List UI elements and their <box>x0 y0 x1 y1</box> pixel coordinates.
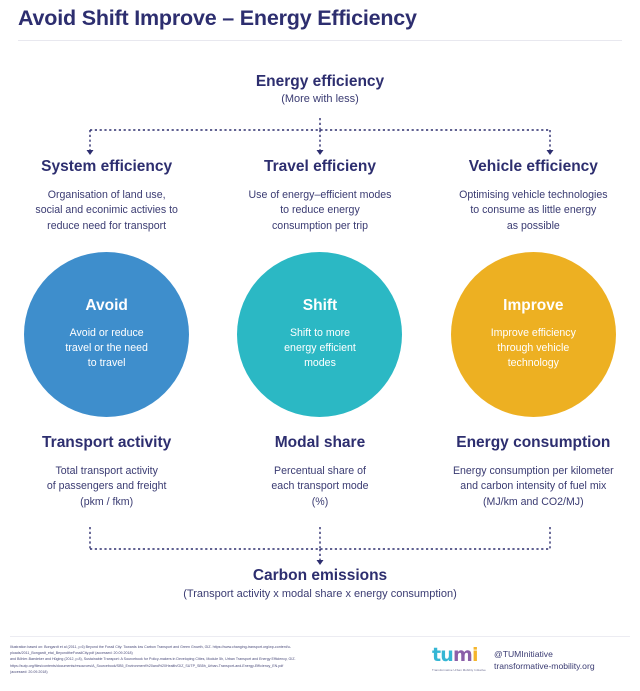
top-node-heading: Energy efficiency <box>0 72 640 91</box>
circle-title: Shift <box>303 297 337 316</box>
circle-body: Avoid or reducetravel or the needto trav… <box>65 326 147 372</box>
circles-row: Avoid Avoid or reducetravel or the needt… <box>0 252 640 417</box>
website-url[interactable]: transformative-mobility.org <box>494 660 595 672</box>
connector-top <box>0 118 640 158</box>
circle-avoid: Avoid Avoid or reducetravel or the needt… <box>24 252 189 417</box>
connector-arrowheads <box>87 150 554 155</box>
circle-title: Improve <box>503 297 563 316</box>
tumi-letter-i: i <box>472 644 478 666</box>
outcome-heading: Transport activity <box>4 434 209 453</box>
tumi-wordmark: tumi <box>432 646 484 665</box>
circle-body: Shift to moreenergy efficientmodes <box>284 326 356 372</box>
outcome-transport-activity: Transport activity Total transport activ… <box>0 434 213 511</box>
connector-arrowhead-bottom <box>317 560 324 565</box>
connector-bottom-svg <box>0 527 640 569</box>
tumi-letter-u: u <box>440 644 453 666</box>
carbon-subtitle: (Transport activity x modal share x ener… <box>0 587 640 601</box>
column-system-efficiency: System efficiency Organisation of land u… <box>0 158 213 235</box>
arrowhead-middle <box>317 150 324 155</box>
column-description: Organisation of land use,social and econ… <box>6 188 207 235</box>
outcome-heading: Energy consumption <box>431 434 636 453</box>
column-description: Optimising vehicle technologiesto consum… <box>433 188 634 235</box>
outcome-energy-consumption: Energy consumption Energy consumption pe… <box>427 434 640 511</box>
column-travel-efficiency: Travel efficieny Use of energy–efficient… <box>213 158 426 235</box>
column-heading: Vehicle efficiency <box>433 158 634 177</box>
outcome-description: Energy consumption per kilometerand carb… <box>431 464 636 511</box>
circle-shift: Shift Shift to moreenergy efficientmodes <box>237 252 402 417</box>
tumi-letter-m: m <box>453 644 472 666</box>
column-heading: Travel efficieny <box>219 158 420 177</box>
outcome-description: Total transport activityof passengers an… <box>4 464 209 511</box>
circle-cell-improve: Improve Improve efficiencythrough vehicl… <box>427 252 640 417</box>
column-heading: System efficiency <box>6 158 207 177</box>
circle-improve: Improve Improve efficiencythrough vehicl… <box>451 252 616 417</box>
outcome-heading: Modal share <box>217 434 422 453</box>
citation-line: (accessed: 20.09.2018) <box>10 669 430 675</box>
arrowhead-left <box>87 150 94 155</box>
outcome-row: Transport activity Total transport activ… <box>0 434 640 511</box>
arrowhead-right <box>547 150 554 155</box>
carbon-heading: Carbon emissions <box>0 566 640 585</box>
top-node: Energy efficiency (More with less) <box>0 72 640 107</box>
infographic-page: Avoid Shift Improve – Energy Efficiency … <box>0 0 640 691</box>
connector-top-svg <box>0 118 640 158</box>
outcome-modal-share: Modal share Percentual share ofeach tran… <box>213 434 426 511</box>
circle-cell-shift: Shift Shift to moreenergy efficientmodes <box>213 252 426 417</box>
outcome-description: Percentual share ofeach transport mode(%… <box>217 464 422 511</box>
column-vehicle-efficiency: Vehicle efficiency Optimising vehicle te… <box>427 158 640 235</box>
footer-brand: tumi Transformative Urban Mobility Initi… <box>430 644 640 673</box>
footer-citation: Illustration based on: Bongardt et al (2… <box>0 644 430 675</box>
arrowhead-carbon <box>317 560 324 565</box>
footer: Illustration based on: Bongardt et al (2… <box>0 644 640 691</box>
circle-title: Avoid <box>85 297 127 316</box>
connector-bottom <box>0 527 640 569</box>
title-divider <box>18 40 622 41</box>
circle-cell-avoid: Avoid Avoid or reducetravel or the needt… <box>0 252 213 417</box>
column-headers-row: System efficiency Organisation of land u… <box>0 158 640 235</box>
tumi-tagline: Transformative Urban Mobility Initiative <box>432 668 484 672</box>
tumi-logo[interactable]: tumi Transformative Urban Mobility Initi… <box>432 646 484 672</box>
page-title: Avoid Shift Improve – Energy Efficiency <box>18 6 417 31</box>
brand-contact: @TUMInitiative transformative-mobility.o… <box>494 646 595 673</box>
carbon-emissions-node: Carbon emissions (Transport activity x m… <box>0 566 640 602</box>
circle-body: Improve efficiencythrough vehicletechnol… <box>491 326 576 372</box>
social-handle[interactable]: @TUMInitiative <box>494 648 595 660</box>
column-description: Use of energy–efficient modesto reduce e… <box>219 188 420 235</box>
top-node-subtitle: (More with less) <box>0 92 640 106</box>
footer-divider <box>10 636 630 637</box>
